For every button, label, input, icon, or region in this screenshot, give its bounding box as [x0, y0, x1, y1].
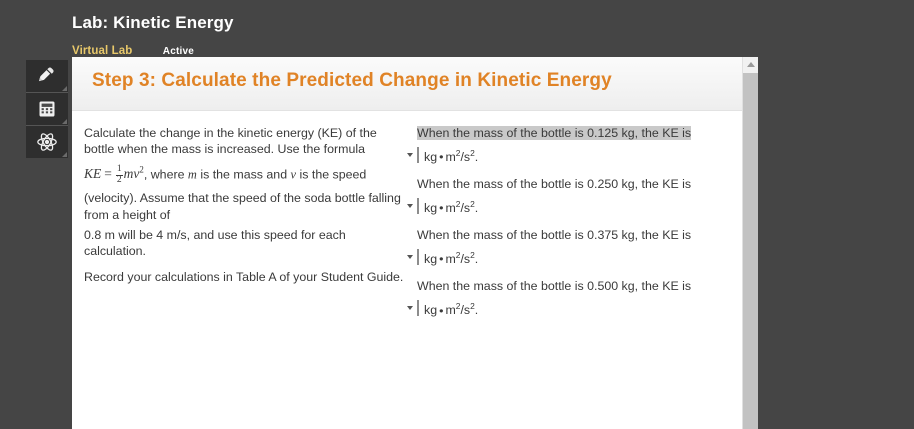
question-block: When the mass of the bottle is 0.250 kg,… — [417, 176, 717, 217]
unit-period: . — [475, 304, 478, 318]
instruction-text-2: (velocity). Assume that the speed of the… — [84, 191, 401, 221]
unit-per-s: /s — [460, 150, 470, 164]
lab-type-label: Virtual Lab — [72, 45, 132, 57]
answer-unit: kg•m2/s2. — [424, 298, 478, 319]
question-block: When the mass of the bottle is 0.125 kg,… — [417, 125, 717, 166]
questions-column: When the mass of the bottle is 0.125 kg,… — [417, 125, 717, 330]
answer-dropdown[interactable] — [417, 147, 419, 163]
instruction-paragraph-3: 0.8 m will be 4 m/s, and use this speed … — [84, 227, 407, 260]
question-text: When the mass of the bottle is 0.250 kg,… — [417, 177, 691, 191]
answer-line: kg•m2/s2. — [417, 298, 717, 319]
panel-header: Step 3: Calculate the Predicted Change i… — [72, 57, 742, 111]
app-header: Lab: Kinetic Energy Virtual Lab Active — [0, 0, 914, 57]
question-text: When the mass of the bottle is 0.125 kg,… — [417, 126, 691, 140]
formula-equals: = — [101, 166, 115, 181]
instruction-text-1: Calculate the change in the kinetic ener… — [84, 126, 377, 156]
formula-expression: KE=12mv2 — [84, 166, 144, 181]
unit-kg: kg — [424, 252, 437, 266]
unit-per-s: /s — [460, 252, 470, 266]
question-block: When the mass of the bottle is 0.500 kg,… — [417, 278, 717, 319]
answer-select-wrap — [417, 147, 419, 164]
tool-rail — [26, 60, 68, 158]
content-panel: Step 3: Calculate the Predicted Change i… — [72, 57, 742, 429]
answer-unit: kg•m2/s2. — [424, 196, 478, 217]
chevron-down-icon — [407, 153, 413, 157]
panel-body: Calculate the change in the kinetic ener… — [72, 111, 742, 429]
instructions-column: Calculate the change in the kinetic ener… — [84, 125, 407, 294]
chevron-down-icon — [407, 306, 413, 310]
formula-mass-var: m — [124, 166, 134, 181]
tool-button-calculator[interactable] — [26, 93, 68, 126]
instruction-text-3: 0.8 m will be 4 m/s, and use this speed … — [84, 228, 346, 258]
inline-var-m: m — [188, 167, 197, 181]
formula-tail-c: is the speed — [296, 167, 366, 181]
unit-per-s: /s — [460, 201, 470, 215]
scrollbar-thumb[interactable] — [743, 73, 758, 429]
unit-period: . — [475, 150, 478, 164]
question-text: When the mass of the bottle is 0.375 kg,… — [417, 228, 691, 242]
answer-line: kg•m2/s2. — [417, 145, 717, 166]
answer-unit: kg•m2/s2. — [424, 247, 478, 268]
chevron-down-icon — [407, 204, 413, 208]
vertical-scrollbar[interactable] — [742, 57, 758, 429]
answer-dropdown[interactable] — [417, 249, 419, 265]
formula-tail-b: is the mass and — [197, 167, 291, 181]
scroll-up-arrow-icon[interactable] — [743, 57, 758, 72]
formula-tail-a: , where — [144, 167, 188, 181]
answer-unit: kg•m2/s2. — [424, 145, 478, 166]
page-title: Lab: Kinetic Energy — [72, 13, 234, 33]
answer-line: kg•m2/s2. — [417, 196, 717, 217]
status-badge: Active — [163, 46, 194, 57]
unit-kg: kg — [424, 150, 437, 164]
answer-select-wrap — [417, 249, 419, 266]
tool-button-atom[interactable] — [26, 126, 68, 158]
chevron-down-icon — [407, 255, 413, 259]
unit-kg: kg — [424, 304, 437, 318]
calculator-icon — [37, 99, 57, 119]
step-title: Step 3: Calculate the Predicted Change i… — [92, 70, 612, 92]
answer-line: kg•m2/s2. — [417, 247, 717, 268]
tool-button-marker[interactable] — [26, 60, 68, 93]
formula-fraction: 12 — [116, 165, 123, 186]
answer-dropdown[interactable] — [417, 198, 419, 214]
marker-icon — [36, 65, 58, 87]
question-block: When the mass of the bottle is 0.375 kg,… — [417, 227, 717, 268]
question-text: When the mass of the bottle is 0.500 kg,… — [417, 279, 691, 293]
answer-select-wrap — [417, 198, 419, 215]
formula-denominator: 2 — [116, 176, 123, 186]
instruction-paragraph-2: (velocity). Assume that the speed of the… — [84, 190, 407, 223]
unit-kg: kg — [424, 201, 437, 215]
unit-period: . — [475, 201, 478, 215]
unit-m: m — [445, 201, 455, 215]
instruction-paragraph-1: Calculate the change in the kinetic ener… — [84, 125, 407, 158]
instruction-text-4: Record your calculations in Table A of y… — [84, 270, 403, 284]
instruction-paragraph-4: Record your calculations in Table A of y… — [84, 269, 407, 285]
triangle-up-icon — [747, 62, 755, 67]
answer-select-wrap — [417, 300, 419, 317]
answer-dropdown[interactable] — [417, 300, 419, 316]
unit-period: . — [475, 252, 478, 266]
atom-icon — [36, 131, 58, 153]
unit-m: m — [445, 150, 455, 164]
unit-m: m — [445, 252, 455, 266]
unit-per-s: /s — [460, 304, 470, 318]
kinetic-energy-formula: KE=12mv2, where m is the mass and v is t… — [84, 162, 407, 186]
unit-m: m — [445, 304, 455, 318]
formula-lhs: KE — [84, 166, 101, 181]
